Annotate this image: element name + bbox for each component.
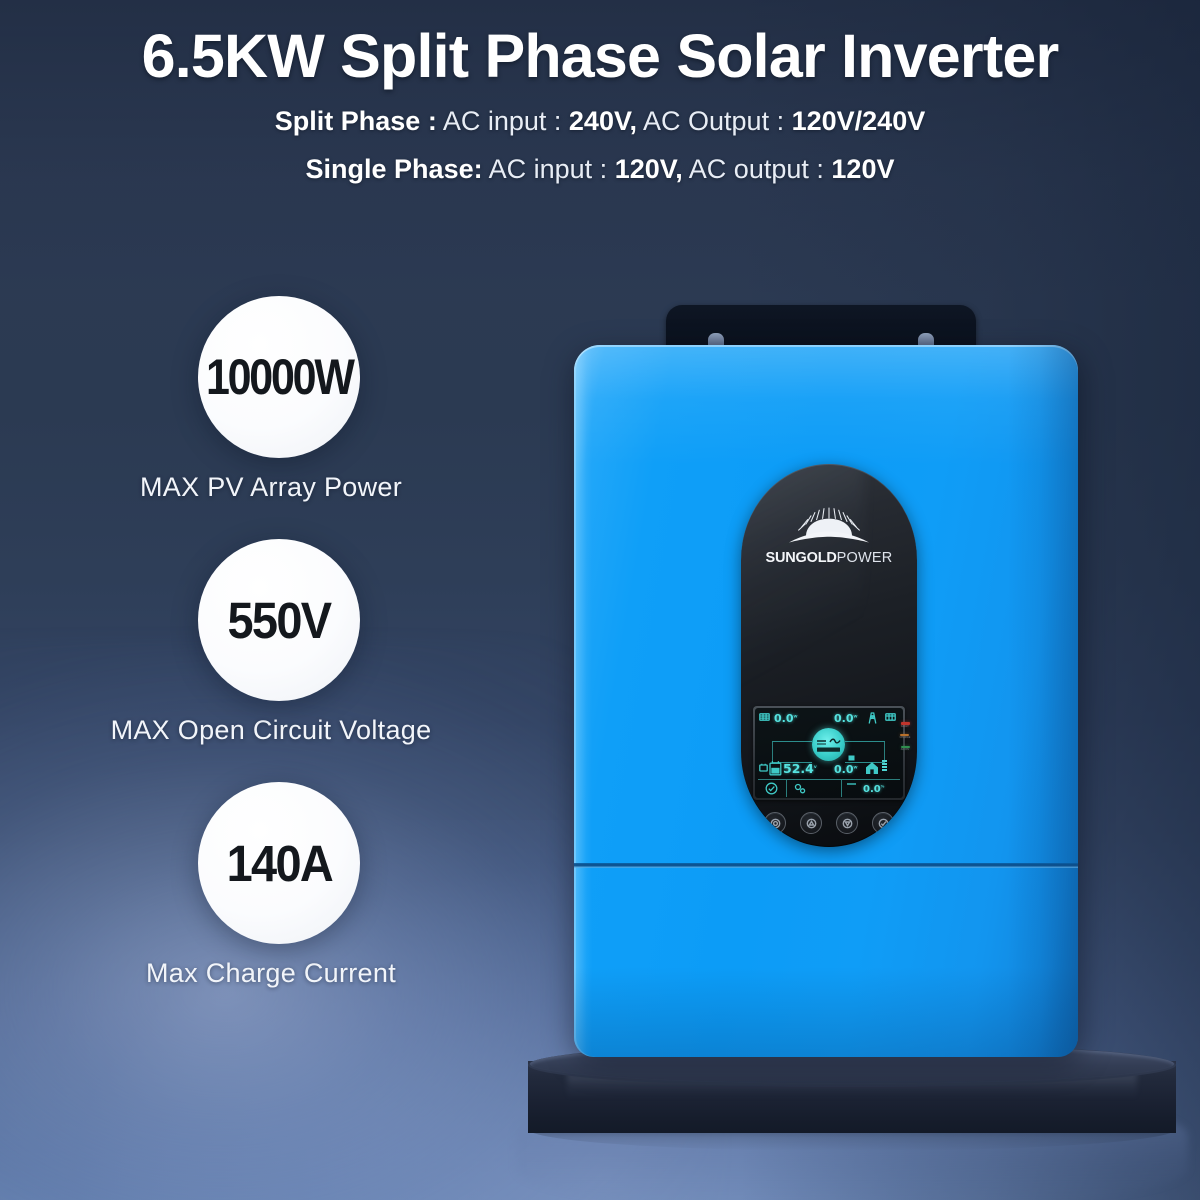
enter-button[interactable] [872, 812, 894, 834]
control-button-row [741, 812, 917, 834]
split-phase-output-label: AC Output : [643, 106, 784, 136]
escape-icon [770, 818, 781, 829]
lcd-status-dash [847, 783, 856, 785]
brand-name-bold: SUNGOLD [766, 550, 837, 566]
grid-status-icon [885, 713, 896, 723]
feature-label-open-circuit-voltage: MAX Open Circuit Voltage [56, 715, 486, 746]
lcd-transfer-icon [848, 755, 855, 761]
brand-name-light: POWER [837, 550, 893, 566]
lcd-load-bar [882, 769, 887, 771]
feature-max-open-circuit-voltage: 550V MAX Open Circuit Voltage [56, 539, 486, 746]
lcd-home-load-icon [865, 761, 879, 775]
solar-panel-icon [759, 713, 770, 723]
header: 6.5KW Split Phase Solar Inverter Split P… [0, 24, 1200, 186]
spec-line-split-phase: Split Phase : AC input : 240V, AC Output… [0, 104, 1200, 139]
lcd-load-bar [882, 763, 887, 765]
page-title: 6.5KW Split Phase Solar Inverter [0, 24, 1200, 88]
lcd-pv-power: 0.0W [774, 713, 798, 724]
led-indicator-fault: FAULT [901, 722, 910, 728]
lcd-dc-input-icon [759, 763, 768, 772]
single-phase-mode-label: Single Phase: [306, 154, 483, 184]
lcd-battery-voltage: 52.4V [783, 763, 817, 776]
solar-inverter-product: SUNGOLDPOWER 0.0W [566, 305, 1090, 1065]
body-top-sheen [574, 345, 1078, 465]
lcd-waveform-icon [816, 735, 841, 753]
lcd-status-unit: % [881, 785, 885, 789]
lcd-load-power: 0.0W [834, 764, 858, 775]
utility-grid-tower-icon [867, 712, 878, 724]
body-left-highlight [574, 345, 592, 1057]
lcd-settings-gears-icon [793, 783, 809, 795]
lcd-pv-power-unit: W [794, 714, 798, 718]
check-icon [878, 818, 889, 829]
body-panel-seam [574, 863, 1078, 868]
led-indicator-ac-inv: AC/INV [901, 746, 910, 752]
lcd-screen[interactable]: 0.0W 0.0W [755, 708, 903, 798]
down-button[interactable] [836, 812, 858, 834]
inverter-body: SUNGOLDPOWER 0.0W [574, 345, 1078, 1057]
feature-max-pv-array-power: 10000W MAX PV Array Power [56, 296, 486, 503]
product-hero-banner: 6.5KW Split Phase Solar Inverter Split P… [0, 0, 1200, 1200]
lcd-ac-input-unit: W [854, 714, 858, 718]
lcd-battery-voltage-unit: V [814, 765, 817, 769]
lcd-ok-status-icon [765, 782, 778, 795]
lcd-load-level-bars [882, 760, 887, 771]
up-arrow-icon [806, 818, 817, 829]
up-button[interactable] [800, 812, 822, 834]
escape-button[interactable] [764, 812, 786, 834]
lcd-flow-line-top-left [772, 741, 812, 742]
split-phase-input-value: 240V, [569, 106, 637, 136]
split-phase-output-value: 120V/240V [792, 106, 926, 136]
badge-value-open-circuit-voltage: 550V [228, 591, 331, 650]
body-right-shading [1008, 345, 1078, 1057]
lcd-ac-input-power: 0.0W [834, 713, 858, 724]
lcd-status-value: 0.0% [863, 785, 884, 795]
lcd-load-power-unit: W [854, 765, 858, 769]
badge-circle-open-circuit-voltage: 550V [198, 539, 360, 701]
lcd-load-bar [882, 766, 887, 768]
split-phase-mode-label: Split Phase : [275, 106, 437, 136]
led-label-charge: CHARGE [900, 737, 911, 739]
badge-value-charge-current: 140A [226, 834, 332, 893]
brand-name: SUNGOLDPOWER [741, 551, 917, 566]
sunburst-icon [781, 506, 877, 548]
led-indicator-charge: CHARGE [900, 734, 911, 740]
front-control-panel: SUNGOLDPOWER 0.0W [741, 464, 917, 847]
led-label-fault: FAULT [901, 726, 910, 728]
badge-circle-pv-power: 10000W [198, 296, 360, 458]
feature-badge-list: 10000W MAX PV Array Power 550V MAX Open … [56, 296, 486, 1025]
lcd-status-divider [758, 779, 900, 780]
panel-sheen [741, 464, 864, 694]
feature-max-charge-current: 140A Max Charge Current [56, 782, 486, 989]
body-bottom-shading [574, 967, 1078, 1057]
lcd-battery-icon [769, 760, 782, 776]
feature-label-charge-current: Max Charge Current [56, 958, 486, 989]
single-phase-output-value: 120V [831, 154, 894, 184]
led-label-ac-inv: AC/INV [901, 749, 910, 751]
lcd-load-bar [882, 760, 887, 762]
down-arrow-icon [842, 818, 853, 829]
lcd-bezel: 0.0W 0.0W [753, 706, 905, 800]
lcd-status-divider-v2 [841, 780, 842, 797]
lcd-status-divider-v1 [786, 780, 787, 797]
single-phase-output-label: AC output : [689, 154, 824, 184]
spec-line-single-phase: Single Phase: AC input : 120V, AC output… [0, 152, 1200, 187]
badge-value-pv-power: 10000W [206, 348, 353, 406]
led-indicator-strip: FAULT CHARGE AC/INV [897, 722, 913, 752]
single-phase-input-value: 120V, [615, 154, 683, 184]
lcd-flow-line-top-right [845, 741, 885, 742]
brand-logo: SUNGOLDPOWER [741, 506, 917, 566]
split-phase-input-label: AC input : [443, 106, 562, 136]
feature-label-pv-power: MAX PV Array Power [56, 472, 486, 503]
badge-circle-charge-current: 140A [198, 782, 360, 944]
single-phase-input-label: AC input : [489, 154, 608, 184]
